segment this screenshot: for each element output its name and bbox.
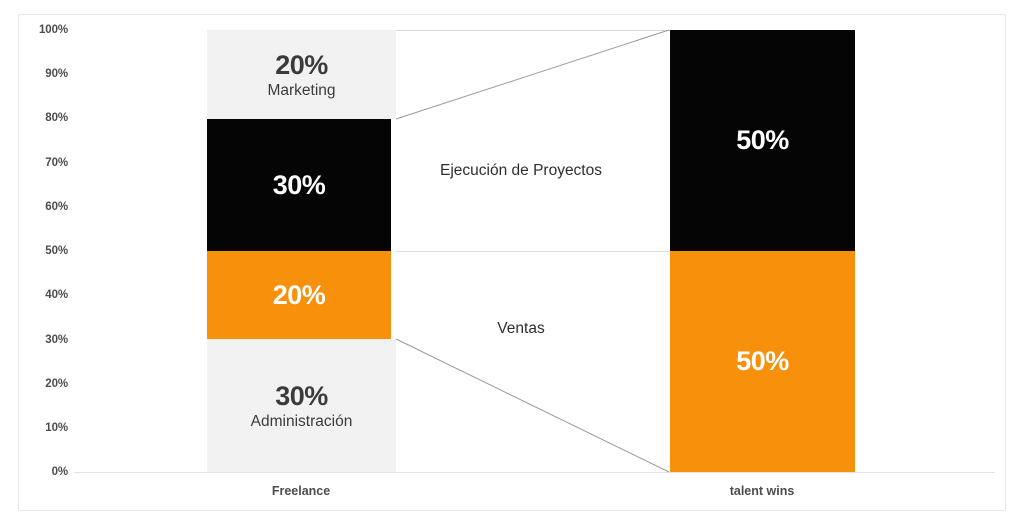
segment-freelance-ventas[interactable]: 20% [207, 251, 391, 339]
chart-canvas: 100% 90% 80% 70% 60% 50% 40% 30% 20% 10%… [0, 0, 1024, 527]
segment-label: Administración [251, 413, 353, 430]
segment-value: 50% [736, 346, 789, 376]
connector-label-ventas: Ventas [497, 320, 544, 338]
segment-value: 20% [273, 280, 326, 310]
x-tick-freelance: Freelance [272, 484, 330, 498]
segment-freelance-ejecucion[interactable]: 30% [207, 119, 391, 251]
connector-lines [0, 0, 1024, 527]
segment-label: Marketing [267, 82, 335, 99]
segment-talentwins-ventas[interactable]: 50% [670, 251, 855, 472]
x-tick-talent-wins: talent wins [730, 484, 795, 498]
connector-upper-line [396, 30, 669, 119]
segment-freelance-marketing[interactable]: 20% Marketing [207, 30, 396, 119]
segment-value: 30% [273, 170, 326, 200]
connector-lower-line [396, 339, 669, 472]
segment-talentwins-ejecucion[interactable]: 50% [670, 30, 855, 251]
connector-label-ejecucion: Ejecución de Proyectos [440, 162, 602, 180]
segment-value: 30% [275, 381, 328, 411]
segment-value: 50% [736, 125, 789, 155]
segment-freelance-administracion[interactable]: 30% Administración [207, 339, 396, 472]
segment-value: 20% [275, 50, 328, 80]
